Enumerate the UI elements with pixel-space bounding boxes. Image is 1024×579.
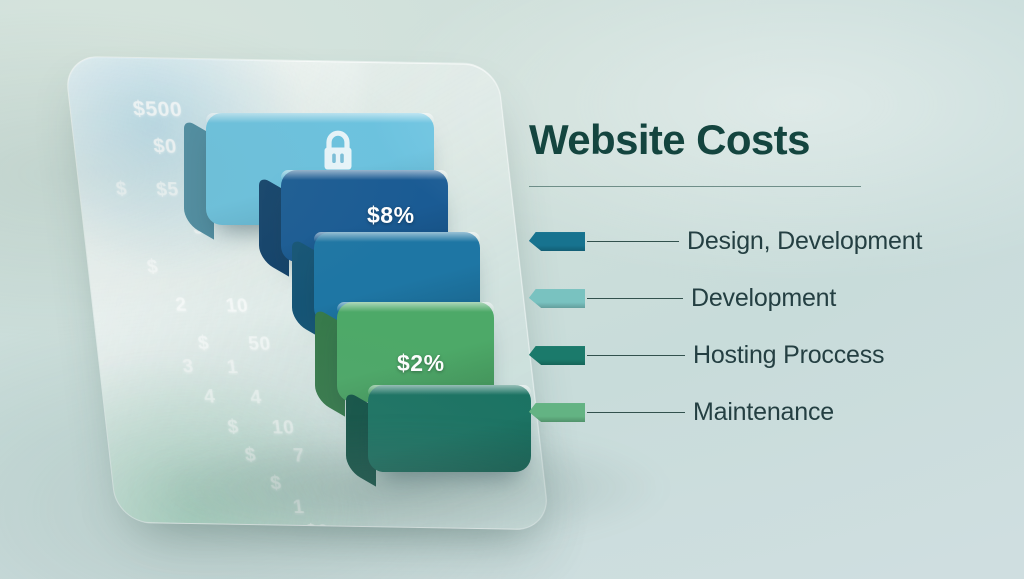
legend-item[interactable]: Maintenance bbox=[529, 384, 949, 441]
legend-item[interactable]: Development bbox=[529, 270, 949, 327]
legend-leader-line bbox=[587, 412, 685, 413]
axis-tick-labels: $500$0$$550$210$503144$10$7$1$0 bbox=[65, 57, 550, 530]
axis-tick-label: 50 bbox=[247, 334, 272, 356]
axis-tick-label: $ bbox=[197, 333, 211, 355]
legend-item[interactable]: Hosting Proccess bbox=[529, 327, 949, 384]
axis-tick-label: 50 bbox=[192, 218, 217, 240]
legend-item[interactable]: Design, Development bbox=[529, 213, 949, 270]
legend-swatch-icon bbox=[529, 232, 585, 251]
legend-swatch-icon bbox=[529, 403, 585, 422]
legend-swatch-icon bbox=[529, 289, 585, 308]
axis-tick-label: 3 bbox=[181, 356, 195, 378]
axis-tick-label: $5 bbox=[155, 179, 180, 201]
legend-swatch-icon bbox=[529, 346, 585, 365]
axis-tick-label: 4 bbox=[203, 386, 217, 408]
axis-tick-label: 7 bbox=[292, 445, 306, 467]
axis-tick-label: $500 bbox=[132, 98, 184, 123]
axis-tick-label: $ bbox=[226, 417, 240, 439]
legend-leader-line bbox=[587, 298, 683, 299]
title-divider bbox=[529, 186, 861, 187]
chart-canvas: $500$0$$550$210$503144$10$7$1$0 $8%$2% W… bbox=[0, 0, 1024, 579]
info-panel: Website Costs Design, DevelopmentDevelop… bbox=[529, 118, 949, 441]
axis-tick-label: 4 bbox=[249, 387, 263, 409]
glass-card: $500$0$$550$210$503144$10$7$1$0 bbox=[64, 56, 551, 531]
axis-tick-label: $ bbox=[244, 445, 258, 467]
chart-legend: Design, DevelopmentDevelopmentHosting Pr… bbox=[529, 213, 949, 441]
axis-tick-label: $ bbox=[269, 473, 283, 495]
axis-tick-label: 1 bbox=[292, 497, 306, 519]
axis-tick-label: 10 bbox=[225, 296, 250, 318]
axis-tick-label: 2 bbox=[174, 295, 188, 317]
legend-item-label: Development bbox=[691, 284, 836, 313]
page-title: Website Costs bbox=[529, 118, 949, 162]
legend-item-label: Hosting Proccess bbox=[693, 341, 884, 370]
legend-item-label: Maintenance bbox=[693, 398, 834, 427]
axis-tick-label: 10 bbox=[271, 417, 296, 439]
axis-tick-label: $0 bbox=[152, 136, 178, 159]
legend-item-label: Design, Development bbox=[687, 227, 922, 256]
legend-leader-line bbox=[587, 241, 679, 242]
axis-tick-label: 1 bbox=[226, 357, 240, 379]
lock-icon bbox=[318, 129, 358, 173]
legend-leader-line bbox=[587, 355, 685, 356]
axis-tick-label: $ bbox=[115, 179, 129, 201]
axis-tick-label: $0 bbox=[305, 521, 331, 530]
axis-tick-label: $ bbox=[146, 256, 160, 278]
